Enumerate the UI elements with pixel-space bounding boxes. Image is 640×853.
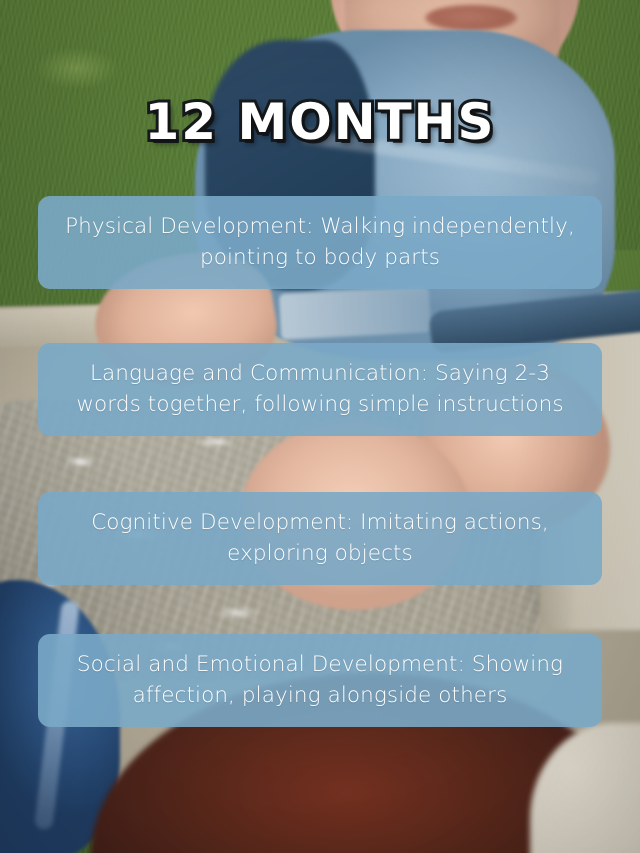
milestone-item-social-emotional: Social and Emotional Development: Showin… — [38, 634, 602, 727]
page-title: 12 MONTHS — [144, 96, 495, 149]
milestone-item-language: Language and Communication: Saying 2-3 w… — [38, 343, 602, 436]
baby-mouth — [425, 5, 517, 31]
milestone-list: Physical Development: Walking independen… — [38, 196, 602, 727]
milestone-card: 12 MONTHS Physical Development: Walking … — [0, 0, 640, 853]
milestone-item-cognitive: Cognitive Development: Imitating actions… — [38, 492, 602, 585]
milestone-item-physical: Physical Development: Walking independen… — [38, 196, 602, 289]
title-area: 12 MONTHS — [0, 96, 640, 149]
